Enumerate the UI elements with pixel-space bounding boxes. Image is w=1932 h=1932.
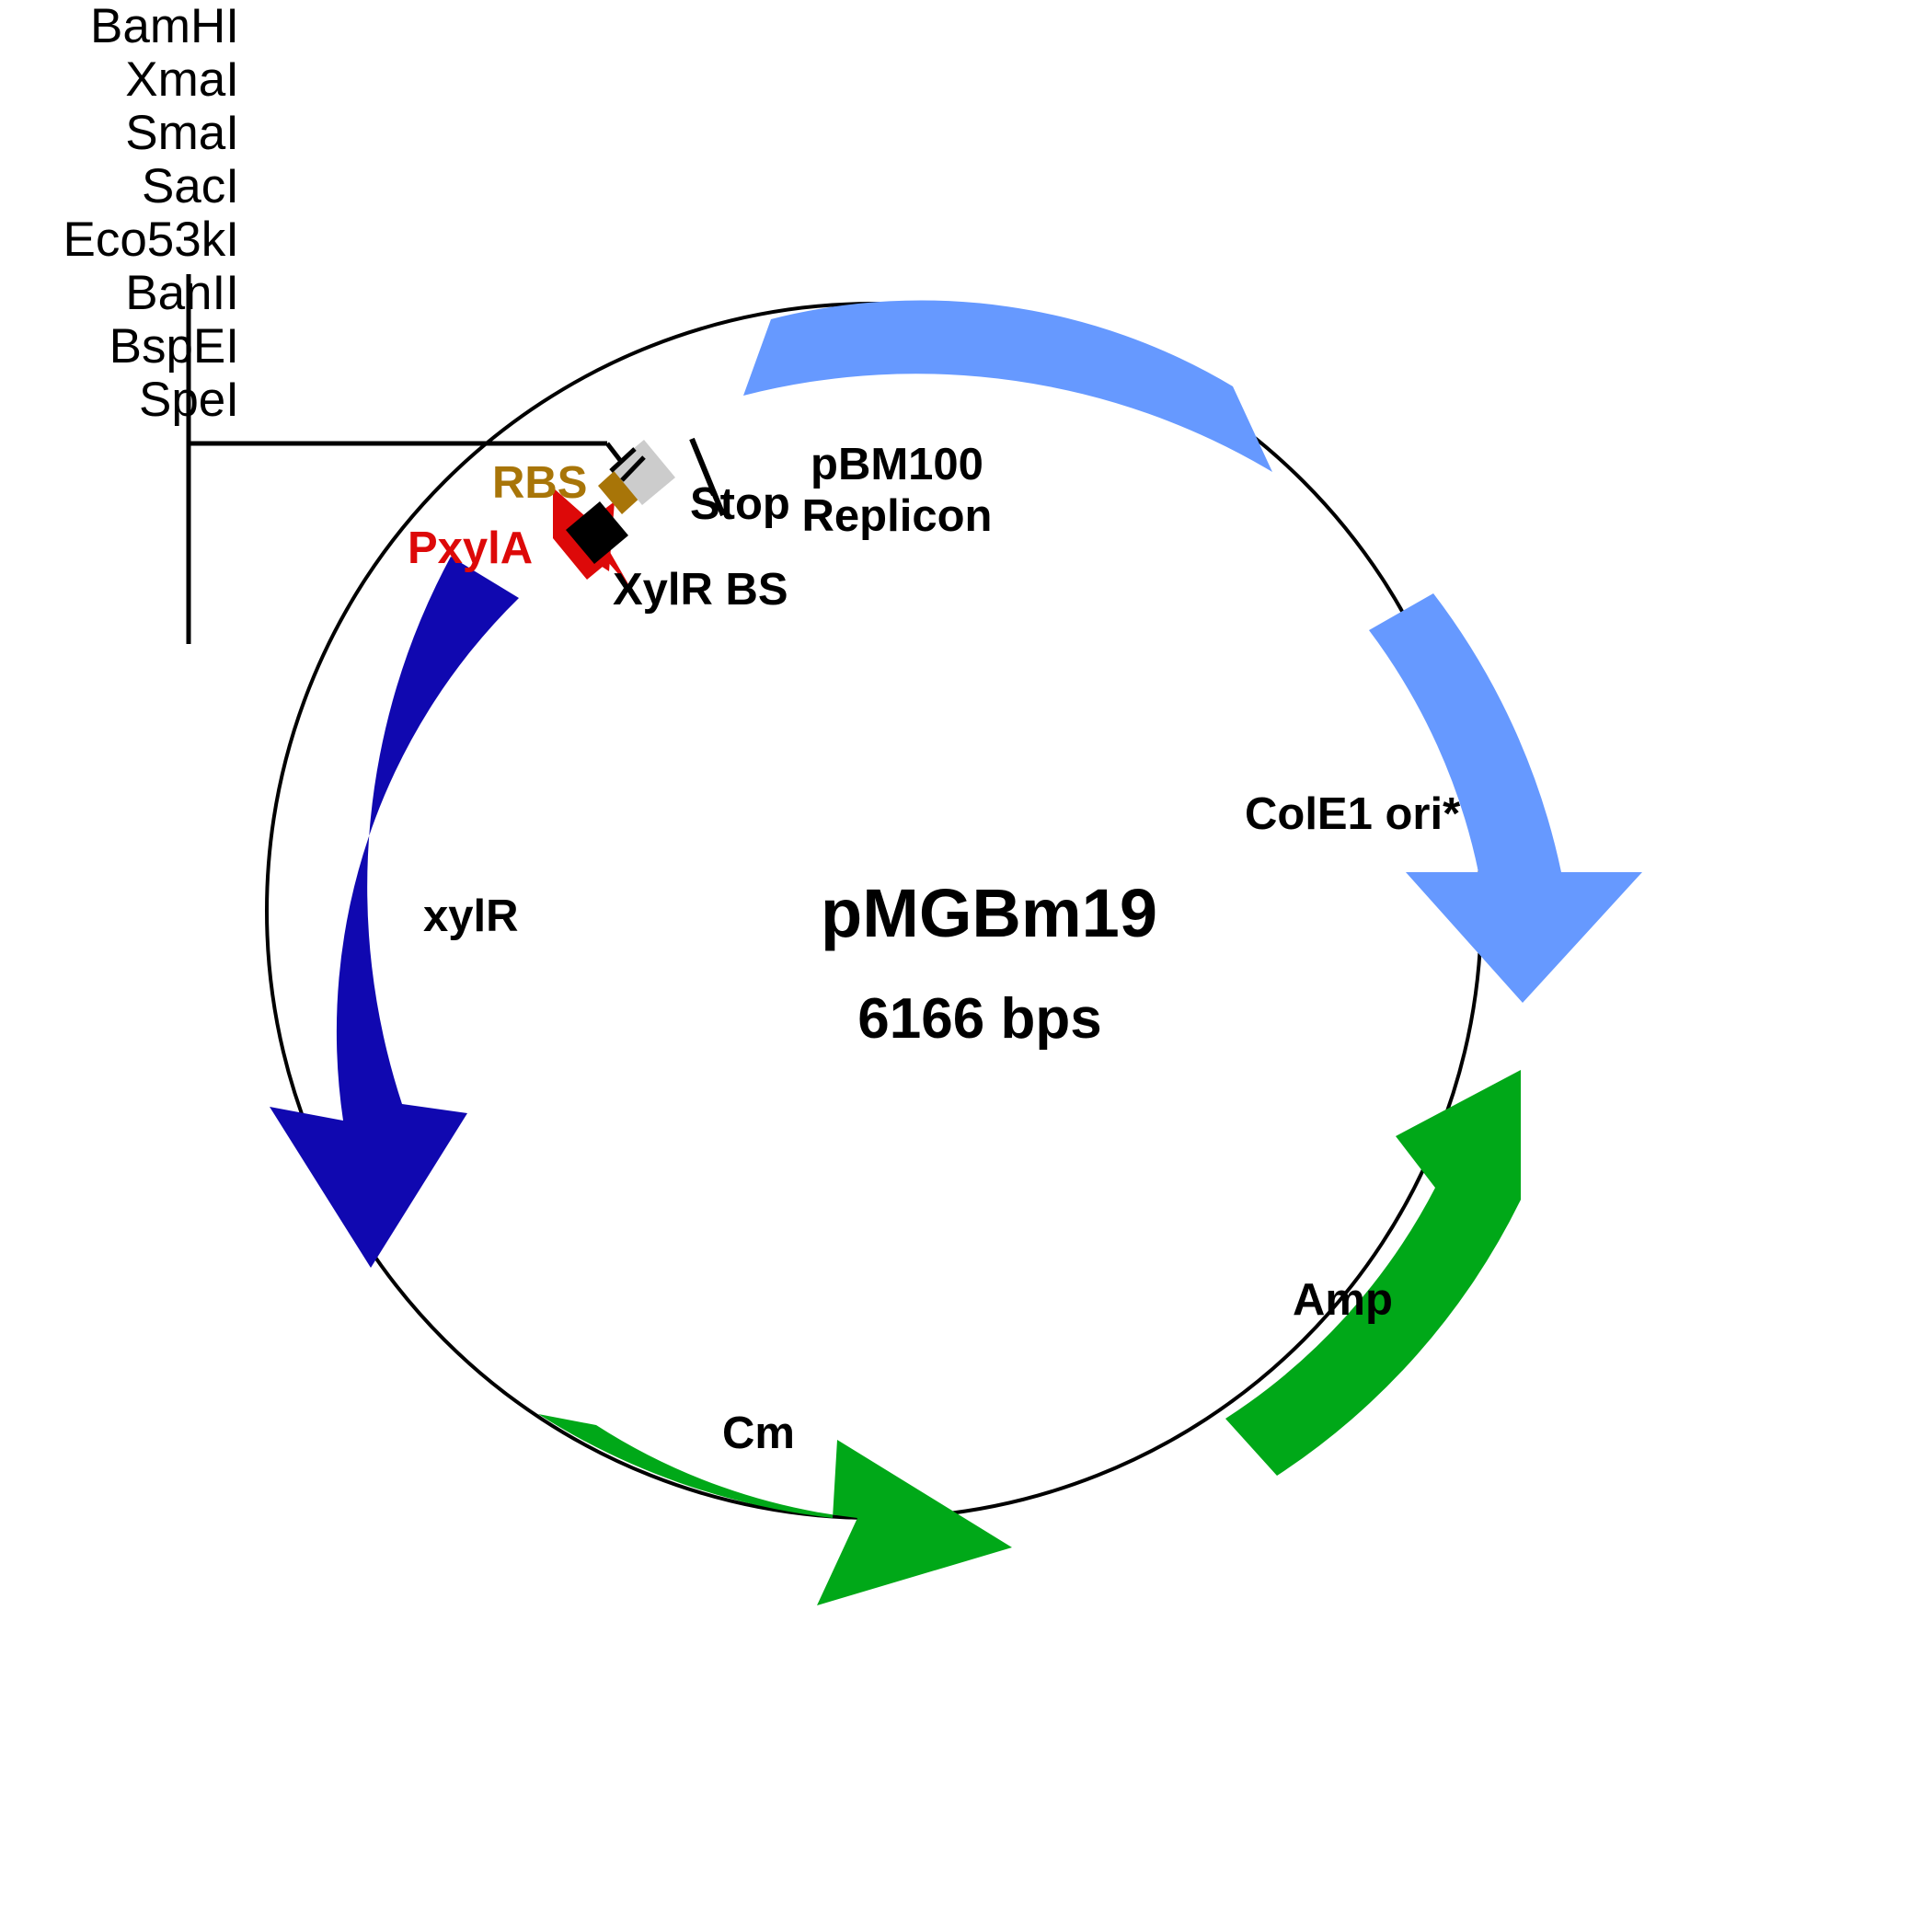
restriction-site-list: BamHI XmaI SmaI SacI Eco53kI BanII BspEI…	[0, 0, 239, 427]
feature-label-rbs[interactable]: RBS	[492, 457, 587, 509]
restriction-site-saci[interactable]: SacI	[0, 160, 239, 213]
plasmid-size: 6166 bps	[704, 986, 1256, 1052]
plasmid-graphics	[0, 0, 1932, 1932]
restriction-site-smai[interactable]: SmaI	[0, 107, 239, 160]
feature-label-cole1-ori[interactable]: ColE1 ori*	[1245, 788, 1460, 840]
feature-label-xylr-gene[interactable]: xylR	[423, 891, 519, 942]
restriction-site-spei[interactable]: SpeI	[0, 374, 239, 427]
plasmid-name: pMGBm19	[713, 874, 1265, 952]
feature-label-pbm100-line1: pBM100	[777, 440, 1017, 491]
restriction-site-eco53ki[interactable]: Eco53kI	[0, 213, 239, 267]
restriction-site-bamhi[interactable]: BamHI	[0, 0, 239, 53]
feature-label-pbm100-line2: Replicon	[777, 491, 1017, 543]
feature-label-pxyla[interactable]: PxylA	[408, 523, 533, 574]
feature-arrow-amp	[1225, 1070, 1521, 1476]
feature-label-stop[interactable]: Stop	[690, 478, 790, 530]
feature-label-cm[interactable]: Cm	[722, 1408, 795, 1459]
feature-label-amp[interactable]: Amp	[1293, 1274, 1393, 1326]
feature-label-pbm100-replicon[interactable]: pBM100 Replicon	[777, 440, 1017, 543]
feature-label-xylr-bs[interactable]: XylR BS	[613, 564, 788, 615]
restriction-site-banii[interactable]: BanII	[0, 267, 239, 320]
restriction-site-xmai[interactable]: XmaI	[0, 53, 239, 107]
plasmid-map-canvas: BamHI XmaI SmaI SacI Eco53kI BanII BspEI…	[0, 0, 1932, 1932]
restriction-site-bspei[interactable]: BspEI	[0, 320, 239, 374]
